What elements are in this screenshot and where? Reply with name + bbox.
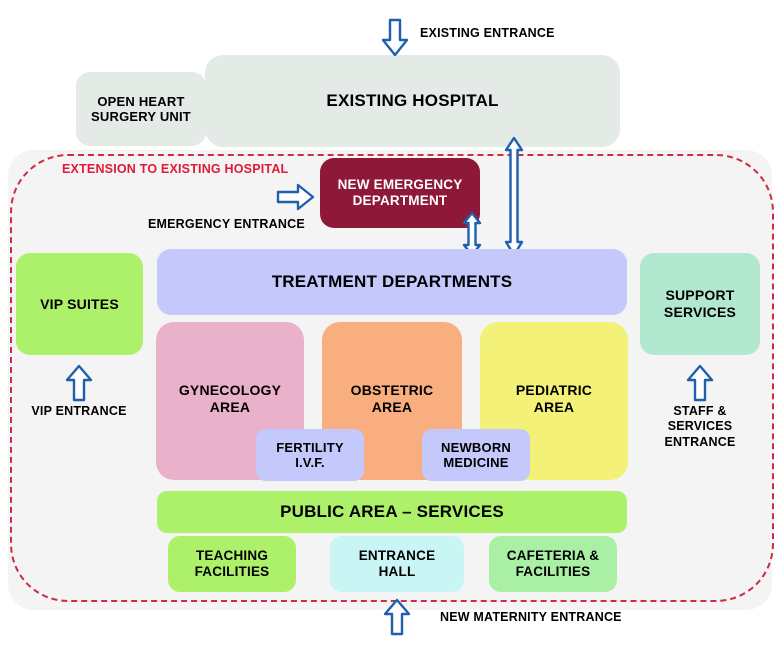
new-emergency-department-block[interactable]: NEW EMERGENCY DEPARTMENT (320, 158, 480, 228)
existing-entrance-label: EXISTING ENTRANCE (420, 26, 650, 41)
diagram-canvas: { "diagram": { "title": "Hospital Extens… (0, 0, 780, 647)
vip-entrance-arrow-up-icon (64, 364, 94, 402)
fertility-ivf-block[interactable]: FERTILITY I.V.F. (256, 429, 364, 481)
existing-hospital-block[interactable]: EXISTING HOSPITAL (205, 55, 620, 147)
newborn-medicine-block[interactable]: NEWBORN MEDICINE (422, 429, 530, 481)
staff-services-entrance-arrow-up-icon (685, 364, 715, 402)
cafeteria-facilities-block[interactable]: CAFETERIA & FACILITIES (489, 536, 617, 592)
support-services-block[interactable]: SUPPORT SERVICES (640, 253, 760, 355)
public-area-services-band[interactable]: PUBLIC AREA – SERVICES (157, 491, 627, 533)
vip-entrance-label: VIP ENTRANCE (8, 404, 150, 419)
emergency-entrance-label: EMERGENCY ENTRANCE (148, 217, 318, 232)
treatment-departments-band[interactable]: TREATMENT DEPARTMENTS (157, 249, 627, 315)
hospital-treatment-double-arrow-vertical-icon (501, 136, 527, 258)
entrance-hall-block[interactable]: ENTRANCE HALL (330, 536, 464, 592)
teaching-facilities-block[interactable]: TEACHING FACILITIES (168, 536, 296, 592)
existing-entrance-arrow-down-icon (380, 18, 410, 58)
extension-zone-label: EXTENSION TO EXISTING HOSPITAL (62, 162, 288, 176)
staff-services-entrance-label: STAFF & SERVICES ENTRANCE (630, 404, 770, 450)
vip-suites-block[interactable]: VIP SUITES (16, 253, 143, 355)
new-maternity-entrance-label: NEW MATERNITY ENTRANCE (440, 610, 690, 625)
emergency-entrance-arrow-right-icon (276, 182, 316, 212)
open-heart-surgery-unit-block[interactable]: OPEN HEART SURGERY UNIT (76, 72, 206, 146)
new-maternity-entrance-arrow-up-icon (382, 598, 412, 636)
